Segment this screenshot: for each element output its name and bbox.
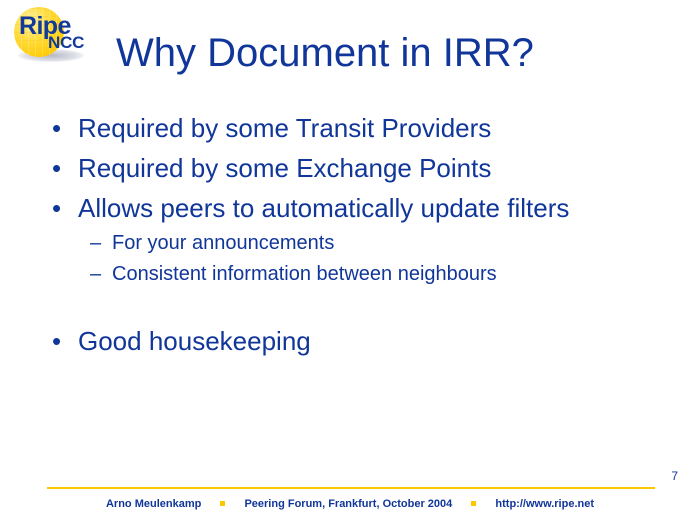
sub-list-item-label: For your announcements [112, 232, 334, 254]
footer-separator-icon [471, 501, 476, 506]
footer-url[interactable]: http://www.ripe.net [495, 498, 594, 510]
bullet-marker: • [52, 321, 61, 361]
dash-marker: – [90, 228, 101, 259]
bullet-marker: • [52, 148, 61, 188]
list-item: • Good housekeeping [0, 321, 700, 361]
sub-list-item-label: Consistent information between neighbour… [112, 263, 497, 285]
page-number: 7 [671, 470, 678, 482]
footer-author: Arno Meulenkamp [106, 498, 201, 510]
footer-separator-icon [220, 501, 225, 506]
slide: Ripe NCC Why Document in IRR? • Required… [0, 0, 700, 525]
list-item-label: Required by some Exchange Points [78, 153, 491, 183]
list-item: • Required by some Transit Providers [0, 108, 700, 148]
list-item-label: Good housekeeping [78, 326, 311, 356]
logo-secondary-text: NCC [48, 34, 84, 51]
list-spacer [0, 290, 700, 321]
sub-list-item: – For your announcements [0, 228, 700, 259]
ripe-ncc-logo: Ripe NCC [6, 4, 98, 66]
footer: Arno Meulenkamp Peering Forum, Frankfurt… [0, 497, 700, 511]
dash-marker: – [90, 259, 101, 290]
list-item-label: Allows peers to automatically update fil… [78, 193, 569, 223]
sub-list-item: – Consistent information between neighbo… [0, 259, 700, 290]
footer-divider [47, 487, 655, 489]
list-item: • Required by some Exchange Points [0, 148, 700, 188]
list-item: • Allows peers to automatically update f… [0, 188, 700, 228]
content-list: • Required by some Transit Providers • R… [0, 108, 700, 361]
page-title: Why Document in IRR? [116, 30, 534, 76]
bullet-marker: • [52, 188, 61, 228]
list-item-label: Required by some Transit Providers [78, 113, 491, 143]
bullet-marker: • [52, 108, 61, 148]
footer-event: Peering Forum, Frankfurt, October 2004 [244, 498, 452, 510]
